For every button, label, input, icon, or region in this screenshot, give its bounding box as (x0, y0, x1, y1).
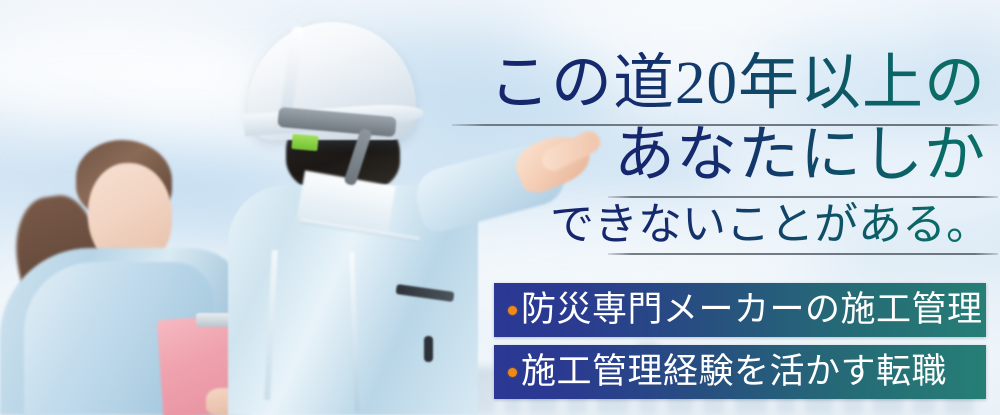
bullet-dot-icon (508, 368, 517, 377)
sky-blue-patch (760, 30, 1000, 120)
bullet-bar-list: 防災専門メーカーの施工管理 施工管理経験を活かす転職 (494, 283, 986, 399)
bullet-bar-2-label: 施工管理経験を活かす転職 (521, 354, 947, 391)
bullet-bar-1-label: 防災専門メーカーの施工管理 (521, 292, 983, 329)
jacket-pocket-tab (424, 336, 433, 362)
bullet-dot-icon (508, 306, 517, 315)
bullet-bar-2: 施工管理経験を活かす転職 (494, 345, 986, 399)
recruitment-banner: この道20年以上の あなたにしか できないことがある。 防災専門メーカーの施工管… (0, 0, 1000, 415)
bullet-bar-1: 防災専門メーカーの施工管理 (494, 283, 986, 337)
hard-hat-green-label (291, 134, 318, 151)
